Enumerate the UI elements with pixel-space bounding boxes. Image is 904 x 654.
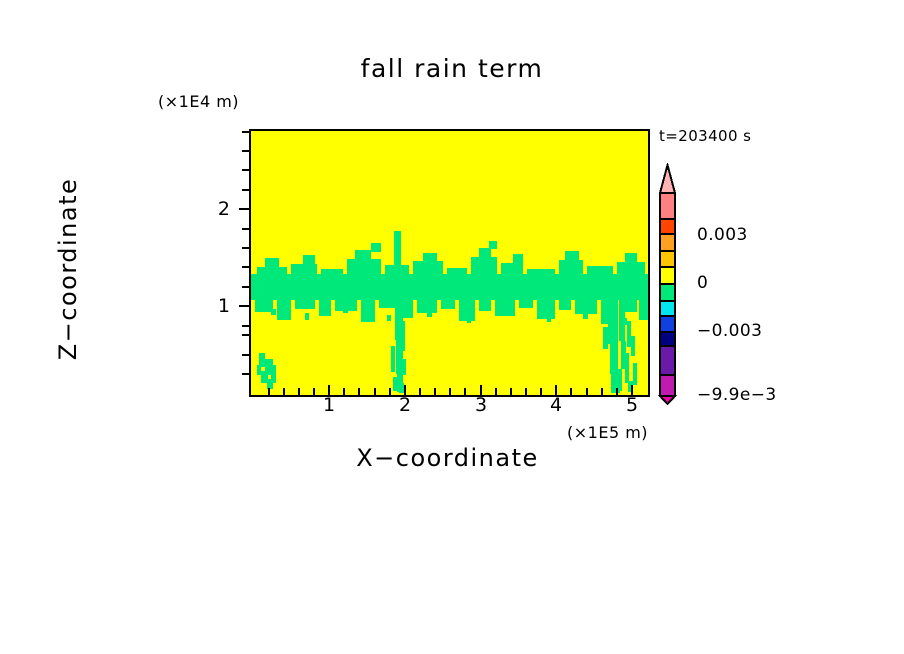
y-tick-minor bbox=[242, 228, 249, 230]
time-annotation: t=203400 s bbox=[659, 127, 751, 145]
y-tick-minor bbox=[242, 354, 249, 356]
x-tick-minor bbox=[358, 388, 360, 395]
page-title: fall rain term bbox=[0, 54, 904, 83]
colorbar: 0.003 0 −0.003 −9.9e−3 bbox=[655, 163, 855, 405]
x-tick-minor bbox=[268, 388, 270, 395]
heatmap-field bbox=[251, 131, 648, 395]
colorbar-tick-label: 0.003 bbox=[697, 225, 748, 245]
x-tick-minor bbox=[283, 388, 285, 395]
x-axis-unit-label: (×1E5 m) bbox=[567, 423, 648, 442]
plot-area bbox=[249, 129, 650, 397]
y-tick-major-2 bbox=[239, 208, 249, 210]
y-tick-minor bbox=[242, 169, 249, 171]
y-tick-minor bbox=[242, 286, 249, 288]
x-axis-title: X−coordinate bbox=[249, 444, 646, 472]
y-tick-minor bbox=[242, 266, 249, 268]
y-tick-minor bbox=[242, 325, 249, 327]
x-tick-minor bbox=[434, 388, 436, 395]
y-axis-title: Z−coordinate bbox=[54, 139, 82, 399]
y-tick-major-1 bbox=[239, 305, 249, 307]
colorbar-tick-label: −0.003 bbox=[697, 321, 762, 341]
y-axis-unit-label: (×1E4 m) bbox=[158, 92, 239, 111]
figure-canvas: fall rain term (×1E4 m) t=203400 s bbox=[0, 0, 904, 654]
colorbar-tick-label: −9.9e−3 bbox=[697, 385, 777, 405]
x-tick-label: 2 bbox=[385, 394, 425, 416]
x-tick-minor bbox=[601, 388, 603, 395]
y-tick-label: 2 bbox=[190, 198, 230, 220]
y-tick-label: 1 bbox=[190, 295, 230, 317]
x-tick-label: 4 bbox=[536, 394, 576, 416]
x-tick-minor bbox=[374, 388, 376, 395]
x-tick-minor bbox=[525, 388, 527, 395]
x-tick-minor bbox=[449, 388, 451, 395]
colorbar-tick-label: 0 bbox=[697, 273, 708, 293]
y-tick-minor bbox=[242, 150, 249, 152]
y-tick-minor bbox=[242, 373, 249, 375]
x-tick-label: 3 bbox=[461, 394, 501, 416]
y-tick-minor bbox=[242, 189, 249, 191]
y-tick-minor bbox=[242, 334, 249, 336]
x-tick-minor bbox=[510, 388, 512, 395]
x-tick-minor bbox=[586, 388, 588, 395]
x-tick-label: 5 bbox=[612, 394, 652, 416]
y-tick-minor bbox=[242, 131, 249, 133]
y-tick-minor bbox=[242, 247, 249, 249]
x-tick-label: 1 bbox=[309, 394, 349, 416]
x-tick-minor bbox=[298, 388, 300, 395]
colorbar-gradient bbox=[655, 163, 695, 405]
